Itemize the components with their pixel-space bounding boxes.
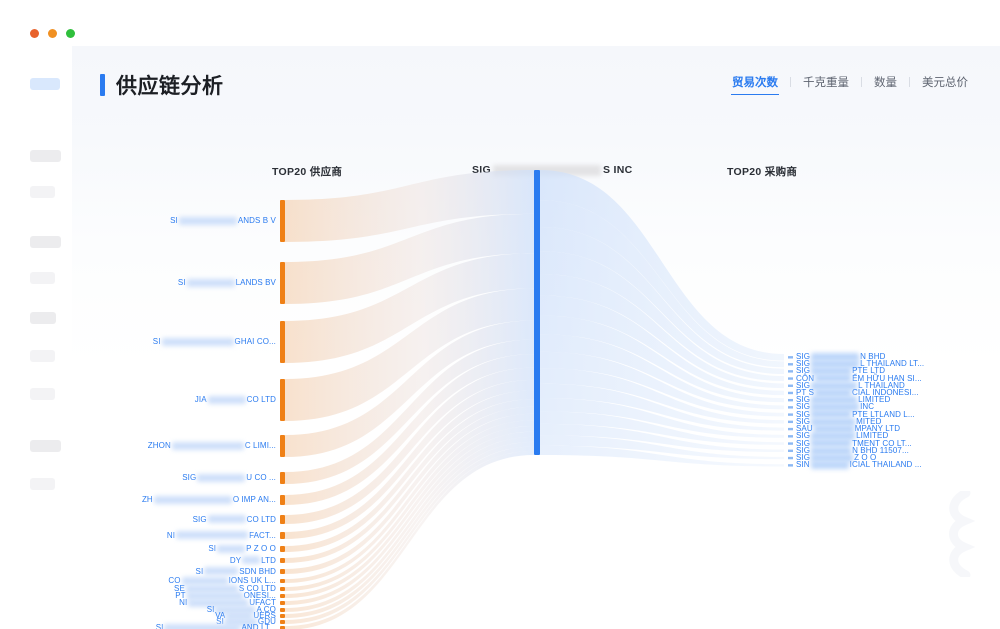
buyer-node-12[interactable]	[788, 442, 793, 444]
supplier-redacted	[172, 442, 244, 450]
maximize-icon[interactable]	[66, 29, 75, 38]
buyer-flows	[540, 170, 784, 466]
supplier-label-11: SISDN BHD	[196, 567, 276, 577]
supplier-suffix: U CO ...	[246, 473, 276, 482]
tab-2[interactable]: 数量	[862, 74, 909, 90]
supplier-redacted	[208, 515, 246, 523]
supplier-node-16[interactable]	[280, 608, 285, 612]
buyer-node-5[interactable]	[788, 392, 793, 394]
buyer-node-11[interactable]	[788, 435, 793, 437]
supplier-redacted	[162, 338, 234, 346]
supplier-prefix: SI	[156, 623, 164, 629]
supplier-node-18[interactable]	[280, 620, 285, 624]
supplier-node-3[interactable]	[280, 379, 285, 421]
window-controls[interactable]	[30, 29, 75, 38]
metric-tabs[interactable]: 贸易次数千克重量数量美元总价	[720, 74, 980, 90]
supplier-prefix: SI	[170, 216, 178, 225]
supplier-label-3: JIACO LTD	[195, 395, 276, 405]
supplier-redacted	[176, 531, 248, 539]
page-title: 供应链分析	[116, 70, 224, 100]
sidebar-item-4[interactable]	[30, 272, 55, 284]
supplier-label-0: SIANDS B V	[170, 216, 276, 226]
supplier-node-2[interactable]	[280, 321, 285, 363]
supplier-suffix: LANDS BV	[236, 278, 276, 287]
supplier-node-8[interactable]	[280, 532, 285, 539]
supplier-node-7[interactable]	[280, 515, 285, 524]
buyer-redacted	[811, 461, 849, 469]
supplier-label-2: SIGHAI CO...	[153, 337, 276, 347]
supplier-suffix: CO LTD	[247, 515, 276, 524]
supplier-suffix: GHAI CO...	[235, 337, 276, 346]
supplier-node-11[interactable]	[280, 569, 285, 574]
supplier-node-14[interactable]	[280, 594, 285, 598]
sidebar-item-3[interactable]	[30, 236, 61, 248]
supply-chain-analysis-page: 供应链分析 贸易次数千克重量数量美元总价 TOP20 供应商 SIGS INC …	[0, 0, 1000, 629]
supplier-node-13[interactable]	[280, 587, 285, 591]
page-header: 供应链分析	[100, 70, 224, 100]
supplier-prefix: NI	[167, 531, 175, 540]
supplier-suffix: O IMP AN...	[233, 495, 276, 504]
supplier-label-5: SIGU CO ...	[182, 473, 276, 483]
supplier-prefix: ZHON	[148, 441, 171, 450]
supplier-node-17[interactable]	[280, 614, 285, 618]
buyer-prefix: SIN	[796, 460, 810, 469]
supplier-label-19: SIAND LT...	[156, 623, 276, 629]
supplier-suffix: FACT...	[249, 531, 276, 540]
buyer-node-0[interactable]	[788, 356, 793, 358]
focus-company-node	[534, 170, 540, 455]
supplier-redacted	[208, 396, 246, 404]
sidebar	[0, 46, 72, 629]
supplier-suffix: SDN BHD	[239, 567, 276, 576]
supplier-nodes	[280, 200, 285, 629]
buyer-node-3[interactable]	[788, 377, 793, 379]
supplier-suffix: C LIMI...	[245, 441, 276, 450]
supplier-suffix: ANDS B V	[238, 216, 276, 225]
supplier-redacted	[164, 624, 240, 629]
buyer-node-10[interactable]	[788, 428, 793, 430]
supplier-label-10: DYLTD	[230, 556, 276, 566]
buyer-suffix: ICIAL THAILAND ...	[850, 460, 922, 469]
supplier-node-15[interactable]	[280, 601, 285, 605]
sidebar-item-5[interactable]	[30, 312, 56, 324]
supplier-node-5[interactable]	[280, 472, 285, 484]
supplier-node-6[interactable]	[280, 495, 285, 505]
supplier-suffix: AND LT...	[241, 623, 276, 629]
supplier-prefix: ZH	[142, 495, 153, 504]
buyer-node-6[interactable]	[788, 399, 793, 401]
supplier-prefix: SI	[153, 337, 161, 346]
tab-3[interactable]: 美元总价	[910, 74, 980, 90]
supplier-suffix: CO LTD	[247, 395, 276, 404]
minimize-icon[interactable]	[48, 29, 57, 38]
supplier-node-9[interactable]	[280, 546, 285, 552]
title-accent-bar	[100, 74, 105, 96]
supplier-redacted	[179, 217, 237, 225]
supplier-label-7: SIGCO LTD	[193, 515, 276, 525]
sankey-chart: TOP20 供应商 SIGS INC TOP20 采购商	[72, 102, 1000, 629]
tab-1[interactable]: 千克重量	[791, 74, 861, 90]
supplier-suffix: LTD	[261, 556, 276, 565]
supplier-node-10[interactable]	[280, 558, 285, 563]
supplier-label-6: ZHO IMP AN...	[142, 495, 276, 505]
sidebar-item-8[interactable]	[30, 440, 61, 452]
supplier-redacted	[154, 496, 232, 504]
close-icon[interactable]	[30, 29, 39, 38]
supplier-node-1[interactable]	[280, 262, 285, 304]
buyer-node-markers	[788, 356, 793, 466]
supplier-label-4: ZHONC LIMI...	[148, 441, 276, 451]
buyer-node-8[interactable]	[788, 413, 793, 415]
tab-0[interactable]: 贸易次数	[720, 74, 790, 90]
supplier-label-1: SILANDS BV	[178, 278, 276, 288]
supplier-redacted	[217, 545, 245, 553]
buyer-node-1[interactable]	[788, 363, 793, 365]
supplier-prefix: SIG	[182, 473, 196, 482]
supplier-redacted	[187, 279, 235, 287]
supplier-prefix: SI	[196, 567, 204, 576]
supplier-prefix: DY	[230, 556, 241, 565]
buyer-label-15: SINICIAL THAILAND ...	[796, 460, 922, 470]
buyer-node-13[interactable]	[788, 450, 793, 452]
buyer-node-4[interactable]	[788, 385, 793, 387]
sidebar-item-1[interactable]	[30, 150, 61, 162]
supplier-prefix: JIA	[195, 395, 207, 404]
watermark-icon	[936, 491, 992, 577]
supplier-prefix: SI	[178, 278, 186, 287]
buyer-node-14[interactable]	[788, 457, 793, 459]
supplier-prefix: SI	[208, 544, 216, 553]
supplier-node-0[interactable]	[280, 200, 285, 242]
supplier-label-9: SIP Z O O	[208, 544, 276, 554]
supplier-redacted	[197, 474, 245, 482]
supplier-label-8: NIFACT...	[167, 531, 276, 541]
buyer-node-7[interactable]	[788, 406, 793, 408]
supplier-prefix: SIG	[193, 515, 207, 524]
sidebar-item-7[interactable]	[30, 388, 55, 400]
supplier-prefix: NI	[179, 598, 187, 607]
supplier-redacted	[242, 556, 260, 564]
buyer-node-2[interactable]	[788, 370, 793, 372]
buyer-node-15[interactable]	[788, 464, 793, 466]
supplier-suffix: P Z O O	[246, 544, 276, 553]
main-panel: 供应链分析 贸易次数千克重量数量美元总价 TOP20 供应商 SIGS INC …	[72, 46, 1000, 629]
sidebar-item-6[interactable]	[30, 350, 55, 362]
supplier-node-12[interactable]	[280, 579, 285, 583]
supplier-redacted	[204, 567, 238, 575]
sidebar-item-9[interactable]	[30, 478, 55, 490]
supplier-flows	[285, 170, 534, 629]
sidebar-item-2[interactable]	[30, 186, 55, 198]
sidebar-item-0[interactable]	[30, 78, 60, 90]
buyer-node-9[interactable]	[788, 421, 793, 423]
window-titlebar	[0, 0, 1000, 46]
supplier-prefix: SI	[207, 605, 215, 614]
supplier-node-4[interactable]	[280, 435, 285, 457]
